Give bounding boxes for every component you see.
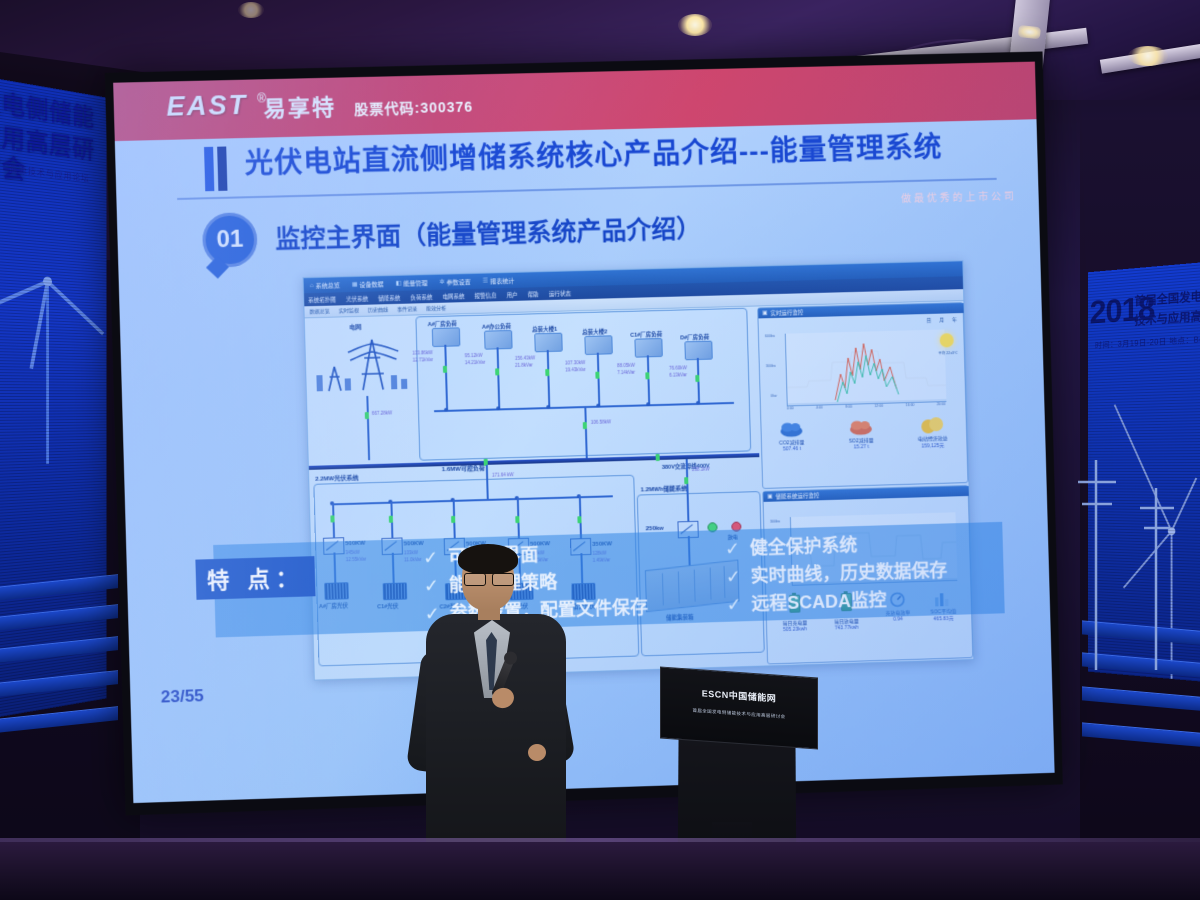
feature-right-0-text: 健全保护系统 (750, 535, 858, 558)
x-tick-2: 8:00 (845, 405, 852, 409)
presenter-hair (458, 544, 518, 574)
check-icon: ✓ (726, 566, 742, 586)
storage-tie-power: 238.1kW (692, 467, 710, 473)
load-node-5 (696, 401, 700, 405)
expand-icon[interactable]: ▣ (767, 494, 772, 500)
x-tick-1: 4:00 (816, 405, 823, 409)
feature-right-1-text: 实时曲线，历史数据保存 (751, 560, 948, 586)
podium-subtitle: 首届全国发电侧储能技术与应用高层研讨会 (677, 707, 801, 722)
storage-card-title: 储能系统运行监控 (775, 491, 819, 500)
x-tick-4: 16:00 (906, 403, 915, 407)
kpi-revenue: 电站经济效益 159,125元 (906, 415, 958, 450)
x-tick-5: 20:00 (937, 402, 946, 406)
kpi-co2: CO2减排量 507.46 t (765, 419, 818, 453)
range-tab-month[interactable]: 月 (939, 317, 944, 324)
x-tick-3: 12:00 (874, 404, 883, 408)
y-tick-0: 600kw (765, 334, 775, 338)
x-tick-0: 0:00 (787, 406, 794, 410)
kpi-so2-value: 15.27 t (836, 444, 888, 451)
cloud-icon (778, 419, 804, 440)
ceiling-spotlight (678, 14, 712, 36)
load-icon-5 (684, 341, 712, 361)
check-icon: ✓ (725, 539, 741, 559)
kpi-co2-value: 507.46 t (766, 445, 818, 452)
stat-charge-value: 505.23kwh (769, 626, 821, 634)
range-tab-year[interactable]: 年 (952, 316, 957, 323)
kpi-so2: SO2减排量 15.27 t (835, 417, 887, 451)
stage-floor (0, 842, 1200, 900)
storage-y-tick-0: 300kw (770, 519, 780, 523)
utility-poles-graphic (1060, 430, 1200, 680)
load-breaker-5[interactable] (695, 375, 699, 382)
glasses-icon (464, 573, 512, 584)
range-tab-day[interactable]: 日 (926, 317, 931, 324)
coin-icon (919, 415, 945, 436)
realtime-chart-plot (785, 329, 947, 406)
conference-room-photo: 发电侧储能 应用高层研讨会 能源技术与应用论坛 2018 首届全国发电 技术与应… (0, 0, 1200, 900)
y-tick-2: 0kw (771, 394, 777, 398)
podium-sign: ESCN中国储能网 首届全国发电侧储能技术与应用高层研讨会 (677, 685, 801, 734)
feature-right-2-text: 远程SCADA监控 (751, 590, 887, 614)
realtime-monitor-card: ▣ 实时运行监控 日 月 年 600kw 300kw 0kw (757, 302, 968, 489)
y-tick-1: 300kw (766, 364, 776, 368)
solar-panel-field-left (0, 560, 118, 790)
podium-brand: ESCN中国储能网 (677, 685, 801, 707)
stat-discharge-value: 743.77kwh (821, 624, 873, 632)
ceiling-spotlight (238, 2, 264, 18)
brand-tagline: 做最优秀的上市公司 (901, 187, 1017, 205)
feature-right-2: ✓远程SCADA监控 (726, 585, 887, 620)
check-icon: ✓ (726, 594, 742, 614)
ceiling-spotlight (1128, 46, 1168, 66)
presenter-hand-free (528, 744, 546, 761)
realtime-range-tabs: 日 月 年 (926, 316, 957, 324)
ceiling-light (1018, 25, 1041, 39)
realtime-chart-svg (786, 329, 947, 405)
kpi-revenue-value: 159,125元 (907, 442, 959, 450)
realtime-card-title: 实时运行监控 (770, 308, 803, 317)
cloud-icon (848, 417, 874, 438)
sun-icon (940, 333, 954, 347)
weather-temp: 平均 22±3℃ (938, 351, 958, 356)
podium-front-panel: ESCN中国储能网 首届全国发电侧储能技术与应用高层研讨会 (660, 666, 818, 749)
expand-icon[interactable]: ▣ (762, 310, 767, 316)
storage-card-header: ▣ 储能系统运行监控 (763, 486, 972, 502)
